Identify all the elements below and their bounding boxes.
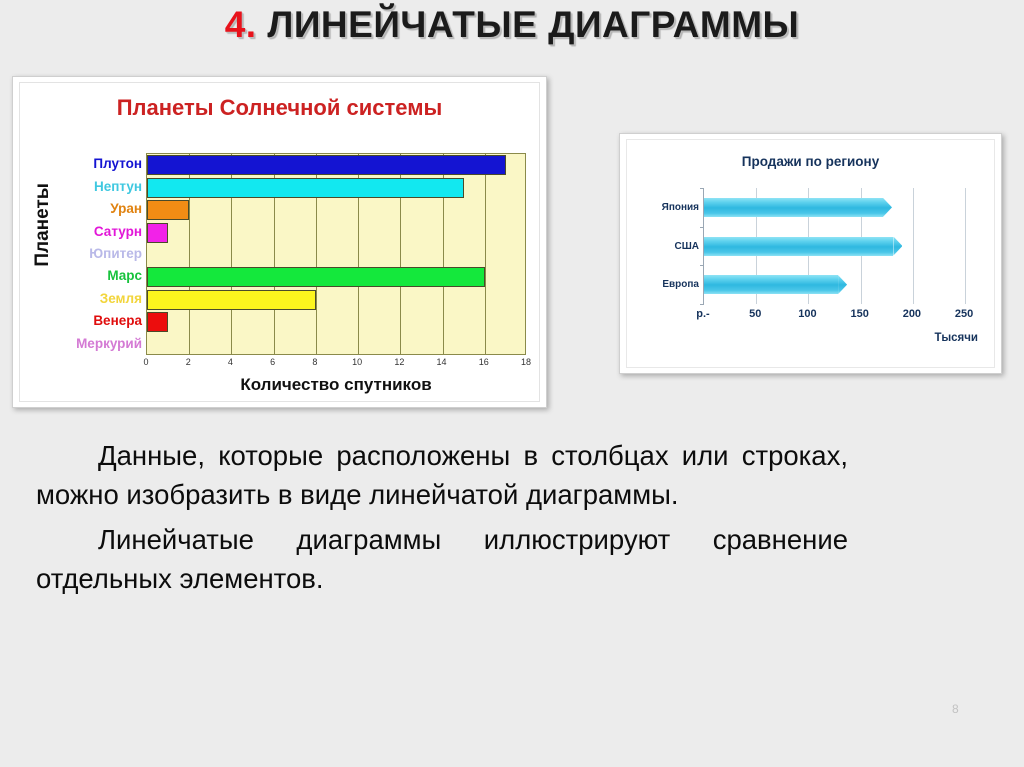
page-title-number: 4.: [225, 4, 257, 45]
category-label-меркурий: Меркурий: [76, 334, 142, 354]
chart-panel-sales: Продажи по региону ЯпонияСШАЕвропа р.-50…: [619, 133, 1002, 374]
x-tick-label: 50: [749, 308, 761, 320]
x-tick-label: 150: [850, 308, 868, 320]
chart-sales-category-labels: ЯпонияСШАЕвропа: [627, 188, 699, 304]
chart-sales-canvas: Продажи по региону ЯпонияСШАЕвропа р.-50…: [626, 139, 995, 368]
bar-row: [147, 312, 527, 332]
chart-planets-x-axis-label: Количество спутников: [146, 375, 526, 395]
page-number: 8: [952, 702, 959, 716]
bar-сатурн: [147, 223, 168, 243]
x-tick-label: 100: [798, 308, 816, 320]
chart-planets-title: Планеты Солнечной системы: [20, 95, 539, 121]
bar-cap-icon: [893, 237, 902, 256]
chart-sales-title: Продажи по региону: [627, 154, 994, 169]
chart-sales-units-label: Тысячи: [934, 332, 978, 344]
category-label-нептун: Нептун: [94, 177, 142, 197]
x-tick-label: 4: [228, 357, 233, 367]
slide-body-text: Данные, которые расположены в столбцах и…: [36, 436, 848, 598]
chart-sales-x-axis-ticks: р.-50100150200250: [703, 308, 985, 324]
chart-planets-category-labels: ПлутонНептунУранСатурнЮпитерМарсЗемляВен…: [20, 153, 142, 355]
bar-япония: [704, 198, 883, 217]
bar-уран: [147, 200, 189, 220]
body-paragraph-2: Линейчатые диаграммы иллюстрируют сравне…: [36, 520, 848, 598]
category-label-юпитер: Юпитер: [89, 244, 142, 264]
category-label-япония: Япония: [662, 198, 699, 217]
bar-row: [147, 267, 527, 287]
chart-planets-canvas: Планеты Солнечной системы Планеты Плутон…: [19, 82, 540, 402]
bar-европа: [704, 275, 838, 294]
x-tick-label: 12: [394, 357, 404, 367]
category-label-земля: Земля: [100, 289, 142, 309]
bar-плутон: [147, 155, 506, 175]
x-tick-label: 10: [352, 357, 362, 367]
bar-земля: [147, 290, 316, 310]
chart-planets-plot-area: [146, 153, 526, 355]
x-tick-label: р.-: [696, 308, 709, 320]
x-tick-label: 200: [903, 308, 921, 320]
x-tick-label: 6: [270, 357, 275, 367]
bar-row: [147, 155, 527, 175]
x-tick-label: 0: [143, 357, 148, 367]
x-tick-label: 18: [521, 357, 531, 367]
bar-row: [704, 275, 986, 294]
page-title: 4. ЛИНЕЙЧАТЫЕ ДИАГРАММЫ: [0, 4, 1024, 46]
category-label-сатурн: Сатурн: [94, 222, 142, 242]
category-label-марс: Марс: [107, 266, 142, 286]
bar-марс: [147, 267, 485, 287]
axis-tick-mark: [700, 265, 704, 266]
category-label-плутон: Плутон: [93, 154, 142, 174]
axis-tick-mark: [700, 188, 704, 189]
x-tick-label: 250: [955, 308, 973, 320]
x-tick-label: 14: [437, 357, 447, 367]
bar-row: [704, 198, 986, 217]
x-tick-label: 8: [312, 357, 317, 367]
chart-planets-x-axis-ticks: 024681012141618: [146, 357, 526, 373]
category-label-европа: Европа: [662, 275, 699, 294]
axis-tick-mark: [700, 304, 704, 305]
body-paragraph-1: Данные, которые расположены в столбцах и…: [36, 436, 848, 514]
bar-row: [704, 237, 986, 256]
bar-row: [147, 223, 527, 243]
category-label-венера: Венера: [93, 311, 142, 331]
chart-panel-planets: Планеты Солнечной системы Планеты Плутон…: [12, 76, 547, 408]
bar-cap-icon: [883, 198, 892, 217]
chart-sales-plot-area: [703, 188, 985, 304]
x-tick-label: 2: [186, 357, 191, 367]
bar-венера: [147, 312, 168, 332]
bar-row: [147, 178, 527, 198]
bar-cap-icon: [838, 275, 847, 294]
bar-нептун: [147, 178, 464, 198]
x-tick-label: 16: [479, 357, 489, 367]
bar-row: [147, 290, 527, 310]
category-label-сша: США: [675, 237, 700, 256]
page-title-text: ЛИНЕЙЧАТЫЕ ДИАГРАММЫ: [257, 4, 800, 45]
bar-row: [147, 200, 527, 220]
bar-сша: [704, 237, 893, 256]
axis-tick-mark: [700, 227, 704, 228]
category-label-уран: Уран: [110, 199, 142, 219]
